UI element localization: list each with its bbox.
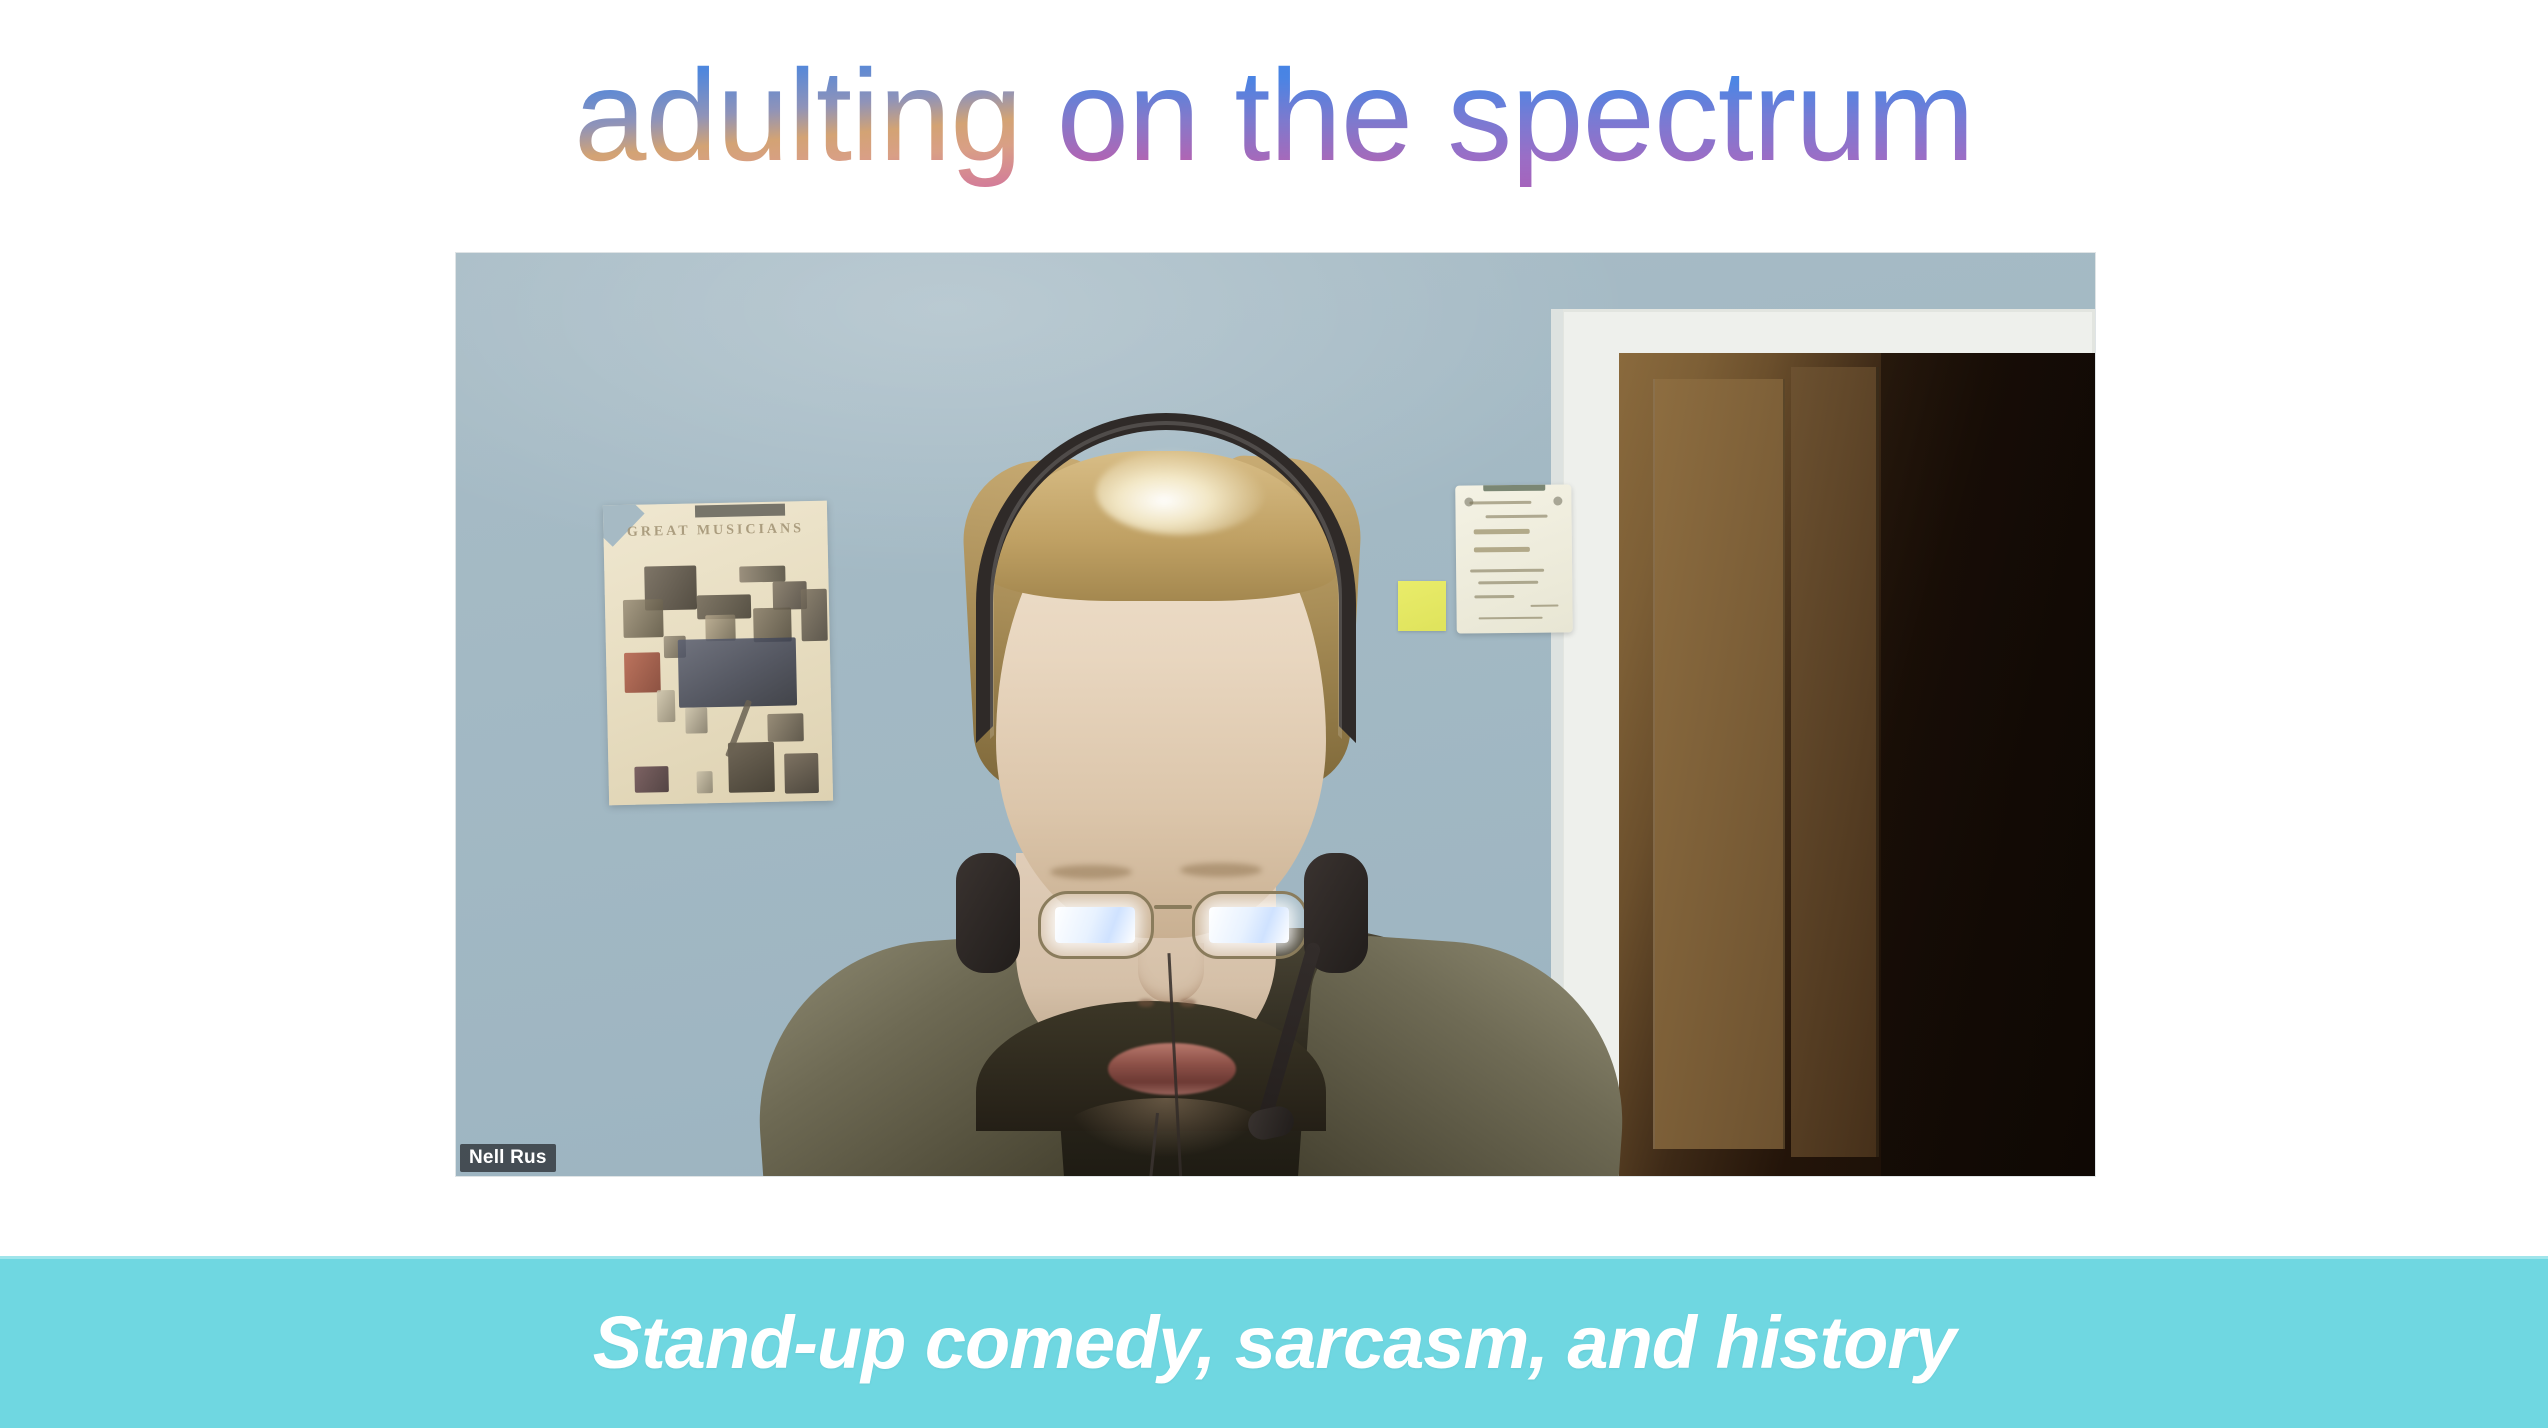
participant-name-label: Nell Rus — [460, 1144, 556, 1172]
glasses-lens-left — [1038, 891, 1154, 959]
lens-screen-reflection — [1055, 907, 1135, 943]
slide-title-text: adulting on the spectrum — [574, 40, 1974, 190]
title-word-adulting: adulting — [574, 40, 1021, 190]
title-word-on: on — [1057, 40, 1200, 190]
glasses-lens-right — [1192, 891, 1308, 959]
headset-earcup-left — [956, 853, 1020, 973]
title-space-2 — [1199, 42, 1234, 188]
title-word-spectrum: spectrum — [1447, 40, 1974, 190]
title-space-1 — [1022, 42, 1057, 188]
nostril-right — [1180, 999, 1196, 1007]
person-with-headset — [456, 253, 2095, 1176]
video-participant-tile[interactable]: GREAT MUSICIANS — [456, 253, 2095, 1176]
chin — [1066, 1098, 1266, 1158]
eyebrow-right — [1180, 863, 1262, 877]
page-title: adulting on the spectrum — [0, 40, 2548, 190]
title-word-the: the — [1234, 40, 1412, 190]
subtitle-band: Stand-up comedy, sarcasm, and history — [0, 1256, 2548, 1428]
eyebrow-left — [1050, 865, 1132, 879]
nostril-left — [1138, 999, 1154, 1007]
title-space-3 — [1412, 42, 1447, 188]
slide-subtitle: Stand-up comedy, sarcasm, and history — [0, 1256, 2548, 1428]
lens-screen-reflection — [1209, 907, 1289, 943]
video-scene: GREAT MUSICIANS — [456, 253, 2095, 1176]
glasses-bridge — [1154, 905, 1192, 909]
